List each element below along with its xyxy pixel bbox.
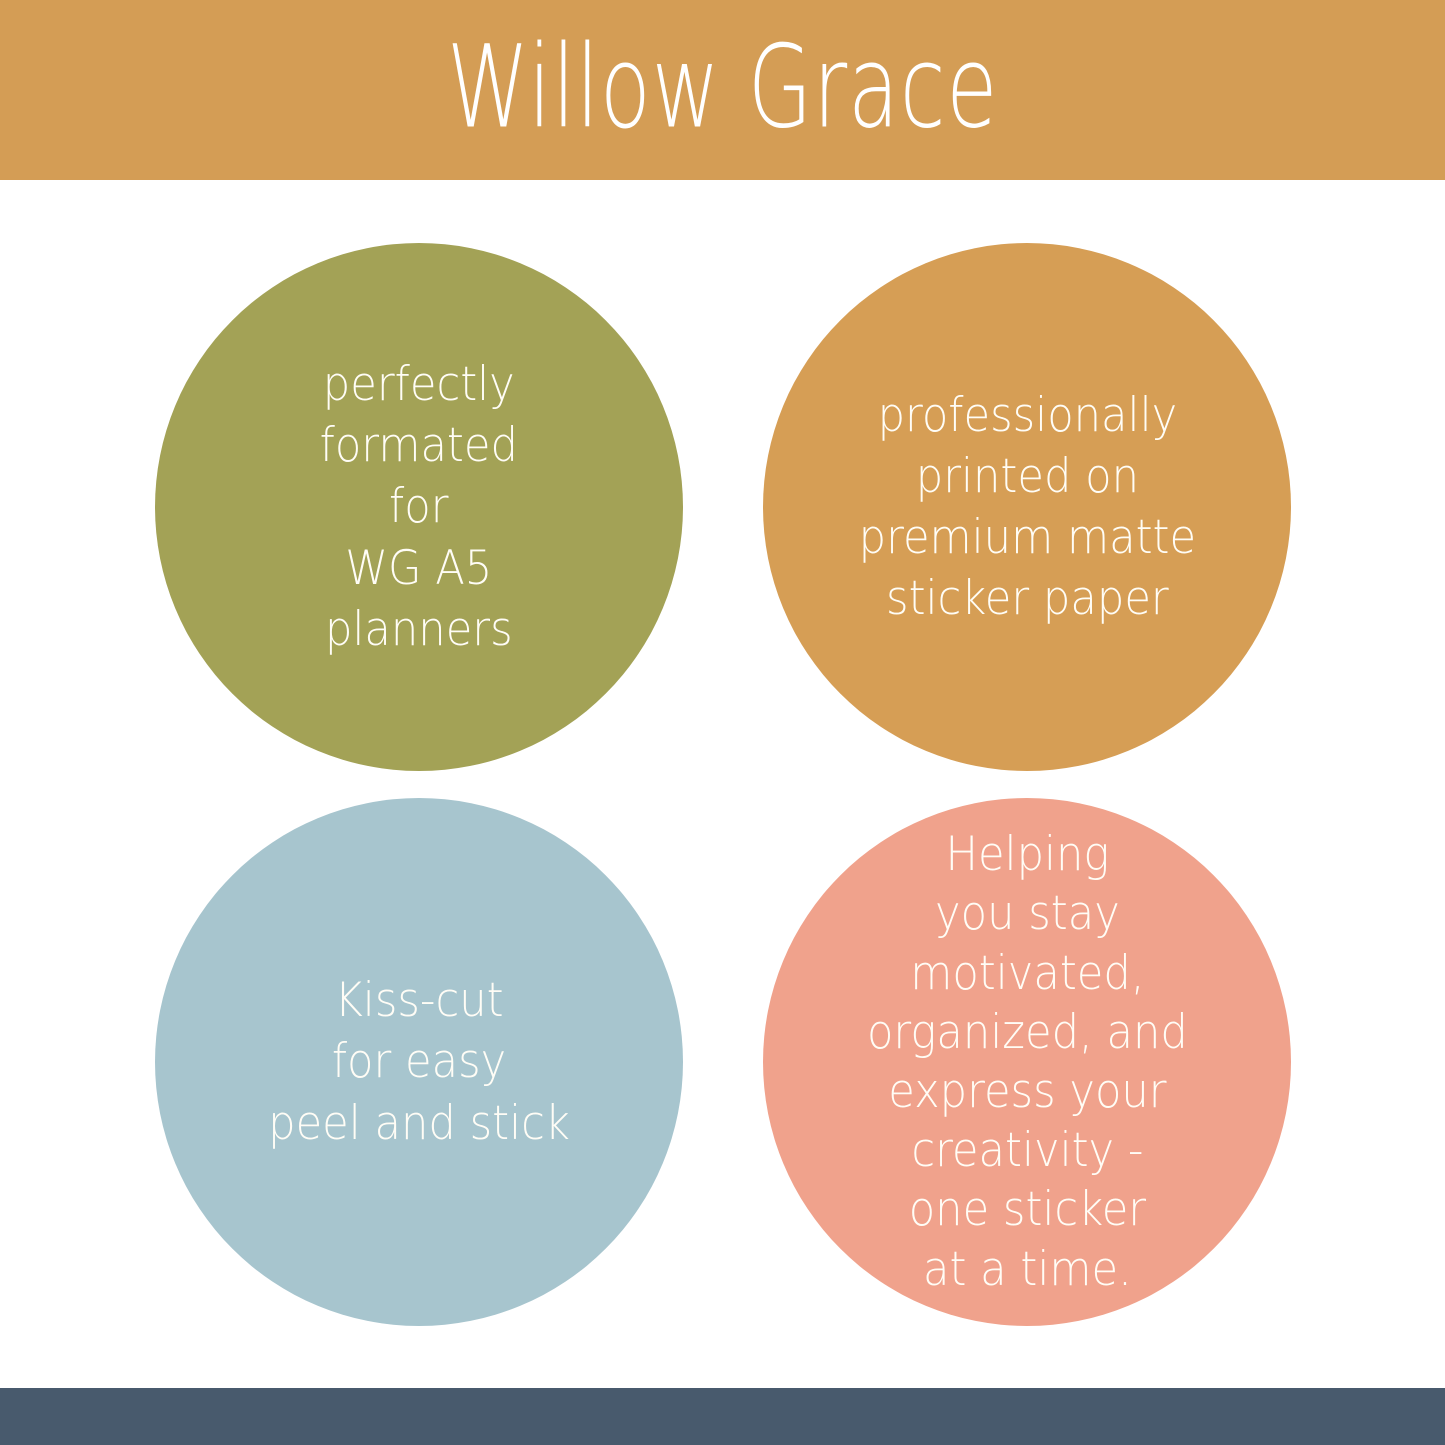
feature-text-mission: Helping you stay motivated, organized, a…	[843, 825, 1212, 1299]
feature-circle-kiss-cut: Kiss-cut for easy peel and stick	[155, 798, 683, 1326]
header-banner: Willow Grace	[0, 0, 1445, 180]
feature-circle-printing: professionally printed on premium matte …	[763, 243, 1291, 771]
feature-circle-formatting: perfectly formated for WG A5 planners	[155, 243, 683, 771]
product-info-graphic: Willow Grace perfectly formated for WG A…	[0, 0, 1445, 1445]
brand-title: Willow Grace	[447, 30, 998, 151]
feature-text-formatting: perfectly formated for WG A5 planners	[296, 354, 542, 659]
feature-circle-grid: perfectly formated for WG A5 planners pr…	[0, 180, 1445, 1388]
feature-circle-mission: Helping you stay motivated, organized, a…	[763, 798, 1291, 1326]
footer-bar	[0, 1388, 1445, 1445]
feature-text-kiss-cut: Kiss-cut for easy peel and stick	[244, 970, 594, 1153]
feature-text-printing: professionally printed on premium matte …	[834, 385, 1219, 629]
